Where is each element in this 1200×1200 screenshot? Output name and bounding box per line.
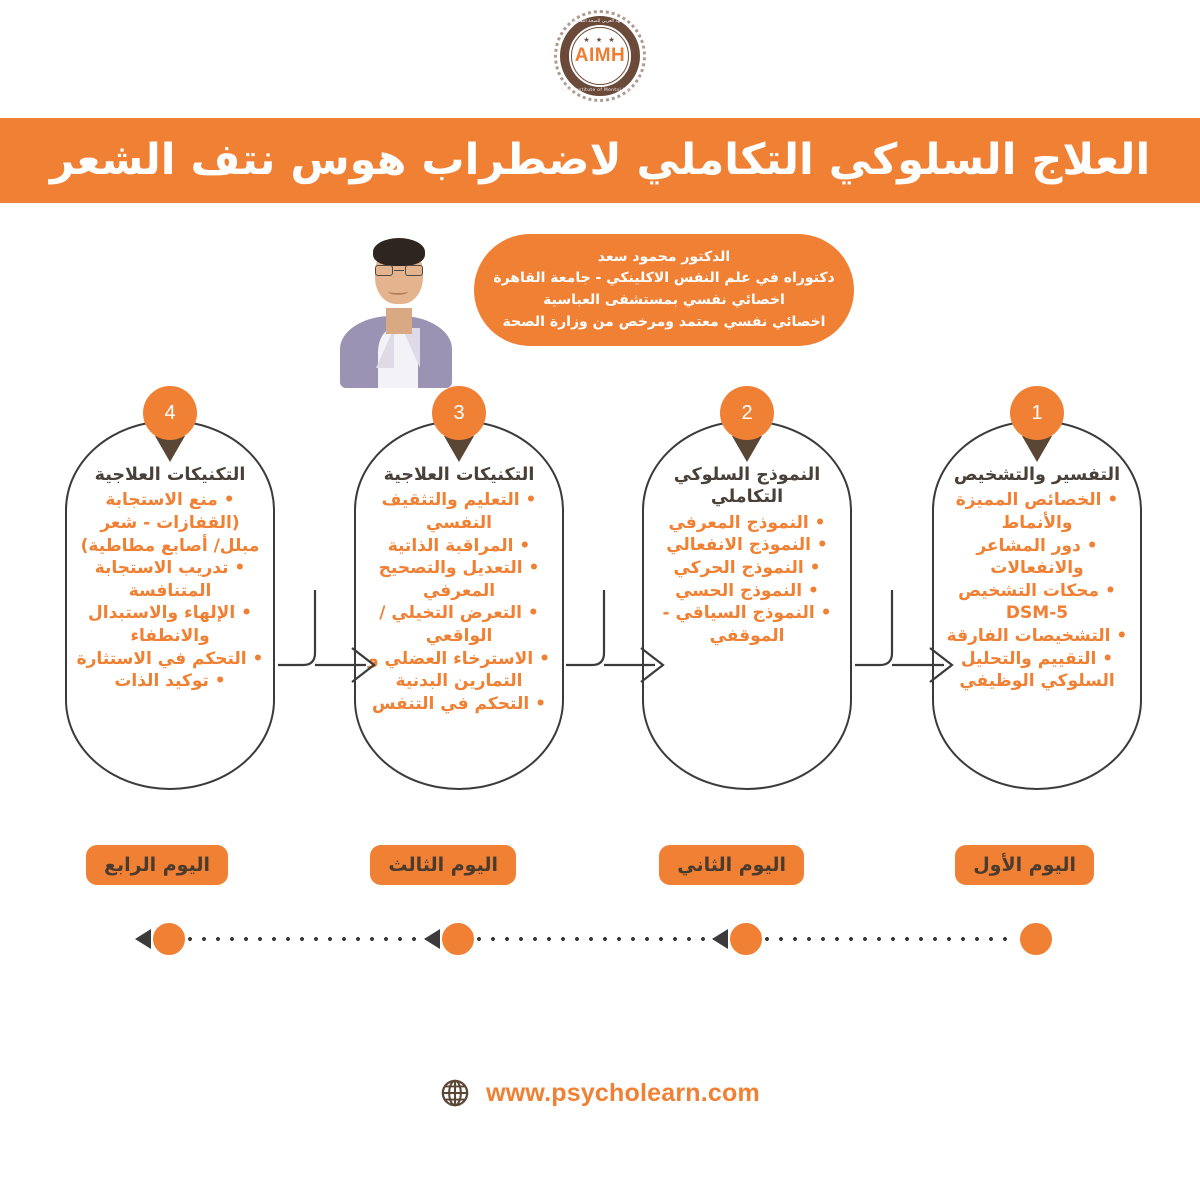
photo-mouth <box>388 288 408 295</box>
photo-collar-left <box>376 328 394 368</box>
page-title: العلاج السلوكي التكاملي لاضطراب هوس نتف … <box>50 138 1150 183</box>
glasses-icon <box>374 265 424 276</box>
timeline <box>0 915 1200 965</box>
timeline-arrow-2 <box>424 929 440 949</box>
stage-number-badge-4: 4 <box>143 386 197 440</box>
globe-icon <box>440 1078 470 1108</box>
stage-number-badge-1: 1 <box>1010 386 1064 440</box>
timeline-node-4 <box>151 921 187 957</box>
footer: www.psycholearn.com <box>0 1078 1200 1108</box>
stage-number-badge-2: 2 <box>720 386 774 440</box>
timeline-arrow-1 <box>712 929 728 949</box>
timeline-dots-1 <box>732 936 1010 942</box>
title-banner: العلاج السلوكي التكاملي لاضطراب هوس نتف … <box>0 118 1200 203</box>
day-label-1: اليوم الأول <box>955 845 1094 885</box>
doctor-credentials-card: الدكتور محمود سعد دكتوراه في علم النفس ا… <box>474 234 854 346</box>
aimh-logo: المعهد العربي للصحة النفسية Arab Institu… <box>552 8 648 104</box>
day-label-3: اليوم الثالث <box>370 845 516 885</box>
glasses-lens-right <box>405 265 423 276</box>
website-url[interactable]: www.psycholearn.com <box>486 1079 760 1108</box>
glasses-lens-left <box>375 265 393 276</box>
seal-arabic-text: المعهد العربي للصحة النفسية <box>554 19 646 24</box>
doctor-license: اخصائي نفسي معتمد ومرخص من وزارة الصحة <box>503 312 826 334</box>
timeline-arrow-3 <box>135 929 151 949</box>
photo-neck <box>386 308 412 334</box>
connector-arrows <box>0 420 1200 810</box>
timeline-dots-2 <box>444 936 710 942</box>
timeline-dots-3 <box>155 936 422 942</box>
seal-english-text: Arab Institute of Mental Health <box>554 88 646 93</box>
seal-stars: ★ ★ ★ <box>554 36 646 44</box>
logo-acronym: AIMH <box>575 45 626 67</box>
doctor-degree: دكتوراه في علم النفس الاكلينكي - جامعة ا… <box>493 268 834 290</box>
doctor-photo <box>336 228 456 388</box>
timeline-node-2 <box>728 921 764 957</box>
seal-dot-left <box>564 54 568 58</box>
glasses-bridge <box>394 270 404 271</box>
timeline-node-3 <box>440 921 476 957</box>
doctor-name: الدكتور محمود سعد <box>598 247 730 269</box>
day-label-2: اليوم الثاني <box>659 845 804 885</box>
timeline-node-1 <box>1018 921 1054 957</box>
stage-number-badge-3: 3 <box>432 386 486 440</box>
photo-hair <box>373 238 425 266</box>
seal-dot-right <box>632 54 636 58</box>
day-label-4: اليوم الرابع <box>86 845 228 885</box>
logo-seal: المعهد العربي للصحة النفسية Arab Institu… <box>554 10 646 102</box>
doctor-hospital: اخصائي نفسي بمستشفى العباسية <box>543 290 785 312</box>
photo-collar-right <box>402 328 420 368</box>
